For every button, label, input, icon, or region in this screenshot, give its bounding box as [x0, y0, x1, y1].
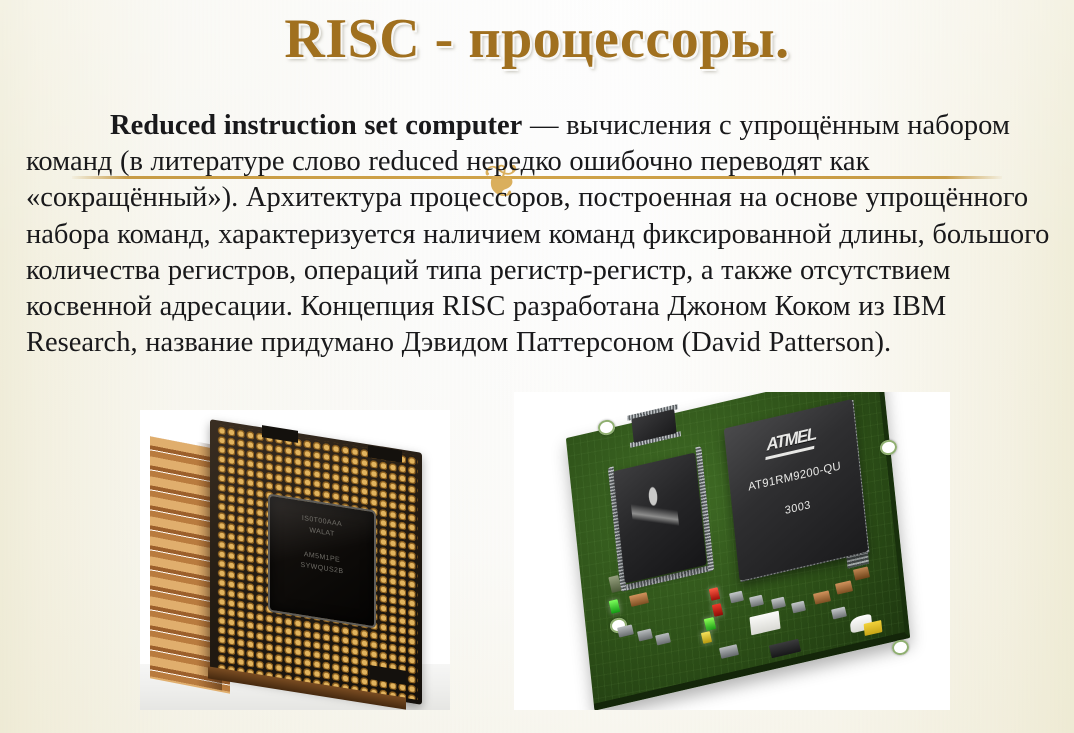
pcb-photo-canvas: ATMEL AT91RM9200-QU 3003 — [514, 392, 950, 710]
slide-canvas: RISC - процессоры. ❦ Reduced instruction… — [0, 0, 1074, 733]
cpu-die-window: IS0T00AAA WALAT AM5M1PE SYWQUS2B — [268, 493, 376, 628]
pcb-photo: ATMEL AT91RM9200-QU 3003 — [514, 392, 950, 710]
cpu-photo-canvas: IS0T00AAA WALAT AM5M1PE SYWQUS2B — [140, 410, 450, 710]
body-rest-text: — вычисления с упрощённым набором команд… — [26, 110, 1049, 358]
memory-chip-marking — [629, 479, 680, 551]
cpu-photo: IS0T00AAA WALAT AM5M1PE SYWQUS2B — [140, 410, 450, 710]
body-lead-term: Reduced instruction set computer — [110, 110, 522, 141]
body-paragraph: Reduced instruction set computer — вычис… — [26, 108, 1054, 361]
atmel-processor-chip — [724, 399, 869, 581]
page-title: RISC - процессоры. — [0, 6, 1074, 72]
